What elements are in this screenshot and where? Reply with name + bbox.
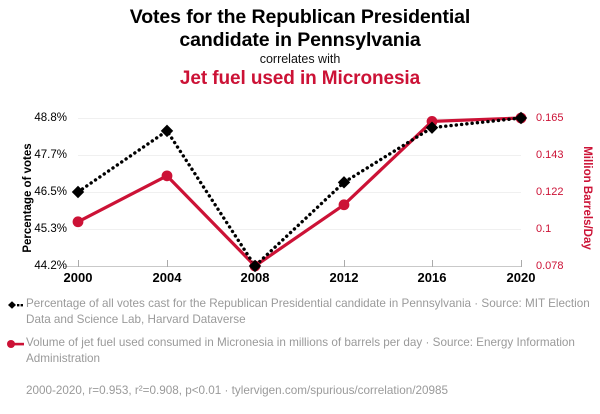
chart-footer-stats: 2000-2020, r=0.953, r²=0.908, p<0.01 · t… — [26, 384, 586, 397]
plot-area: Percentage of votes 48.8% 47.7% 46.5% 45… — [0, 0, 600, 300]
data-point-jet-fuel — [339, 199, 350, 210]
legend-item-votes-label: Percentage of all votes cast for the Rep… — [26, 296, 600, 327]
legend-item-votes: Percentage of all votes cast for the Rep… — [0, 296, 600, 327]
series-line-votes — [78, 118, 521, 266]
series-line-jet-fuel — [78, 118, 521, 266]
series-canvas — [0, 0, 600, 300]
data-point-votes — [515, 112, 527, 124]
data-point-jet-fuel — [162, 170, 173, 181]
chart-legend: Percentage of all votes cast for the Rep… — [0, 296, 600, 368]
black-dotted-diamond-marker-icon — [2, 299, 24, 311]
data-point-jet-fuel — [73, 216, 84, 227]
series-markers-votes — [72, 112, 527, 272]
legend-item-jet-fuel: Volume of jet fuel used consumed in Micr… — [0, 335, 600, 366]
chart-page: Votes for the Republican Presidential ca… — [0, 0, 600, 414]
series-markers-jet-fuel — [73, 113, 527, 272]
red-solid-circle-marker-icon — [2, 338, 24, 350]
legend-item-jet-fuel-label: Volume of jet fuel used consumed in Micr… — [26, 335, 600, 366]
